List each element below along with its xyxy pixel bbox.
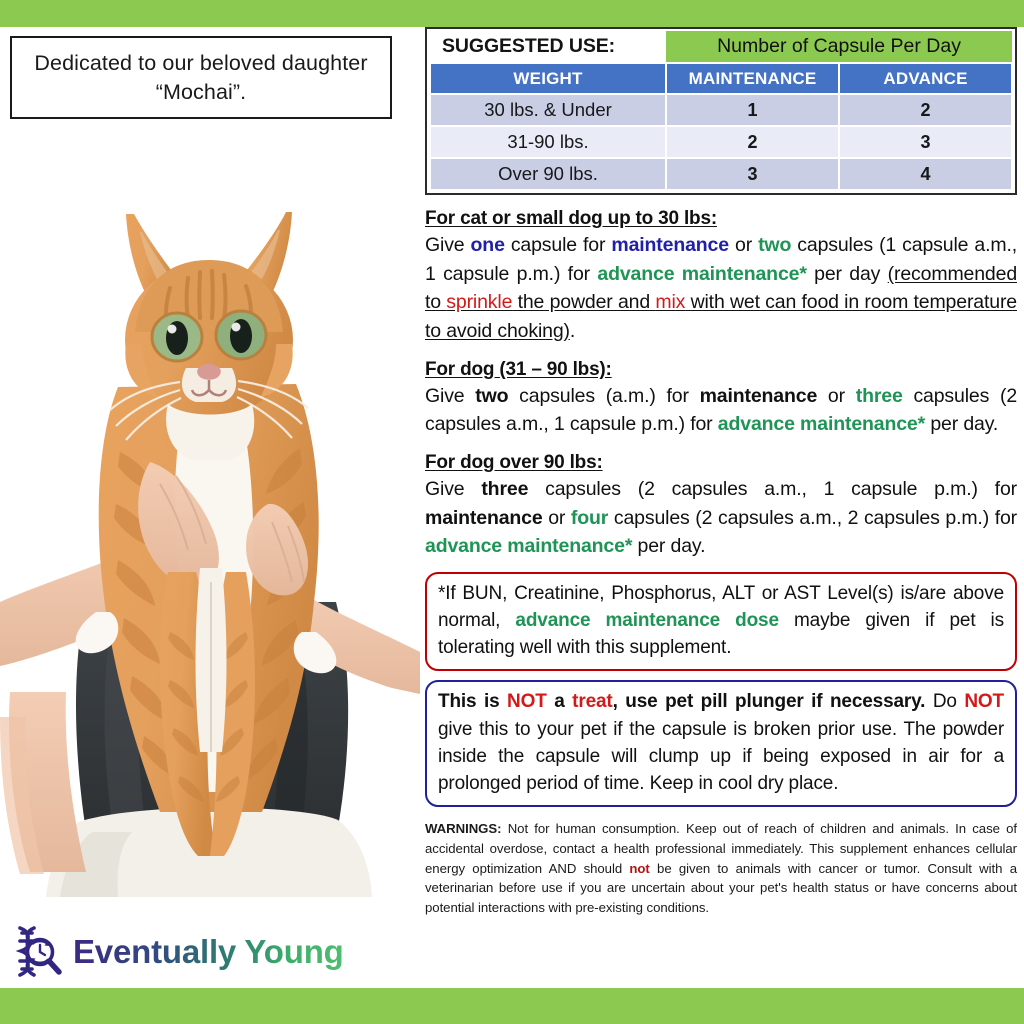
column-header-weight: WEIGHT: [430, 63, 666, 94]
warnings-label: WARNINGS:: [425, 821, 501, 836]
section-heading: For cat or small dog up to 30 lbs:: [425, 208, 1017, 230]
section-body: Give three capsules (2 capsules a.m., 1 …: [425, 475, 1017, 561]
dosing-section-large-dog: For dog over 90 lbs: Give three capsules…: [425, 452, 1017, 561]
section-heading: For dog (31 – 90 lbs):: [425, 359, 1017, 381]
cell-maintenance: 2: [666, 126, 839, 158]
cell-advance: 4: [839, 158, 1012, 190]
cell-maintenance: 1: [666, 94, 839, 126]
cell-advance: 3: [839, 126, 1012, 158]
capsules-per-day-header: Number of Capsule Per Day: [666, 31, 1012, 63]
not-a-treat-text: This is NOT a treat, use pet pill plunge…: [438, 688, 1004, 797]
cell-weight: Over 90 lbs.: [430, 158, 666, 190]
table-row: 31-90 lbs. 2 3: [430, 126, 1012, 158]
cell-weight: 30 lbs. & Under: [430, 94, 666, 126]
table-header-row: WEIGHT MAINTENANCE ADVANCE: [430, 63, 1012, 94]
table-row: Over 90 lbs. 3 4: [430, 158, 1012, 190]
table-title-row: SUGGESTED USE: Number of Capsule Per Day: [430, 31, 1012, 63]
cell-maintenance: 3: [666, 158, 839, 190]
brand-logo: Eventually Young: [8, 920, 408, 984]
dedication-text: Dedicated to our beloved daughter “Mocha…: [12, 49, 390, 106]
cell-advance: 2: [839, 94, 1012, 126]
not-a-treat-callout: This is NOT a treat, use pet pill plunge…: [425, 680, 1017, 807]
column-header-advance: ADVANCE: [839, 63, 1012, 94]
top-green-bar: [0, 0, 1024, 27]
section-body: Give one capsule for maintenance or two …: [425, 231, 1017, 346]
warnings-text: Not for human consumption. Keep out of r…: [425, 821, 1017, 915]
table-row: 30 lbs. & Under 1 2: [430, 94, 1012, 126]
dosing-section-cat-small-dog: For cat or small dog up to 30 lbs: Give …: [425, 208, 1017, 346]
lab-levels-callout: *If BUN, Creatinine, Phosphorus, ALT or …: [425, 572, 1017, 671]
dosing-section-medium-dog: For dog (31 – 90 lbs): Give two capsules…: [425, 359, 1017, 439]
bottom-green-bar: [0, 988, 1024, 1024]
cat-photo: [0, 132, 420, 897]
suggested-use-title: SUGGESTED USE:: [430, 31, 666, 63]
section-body: Give two capsules (a.m.) for maintenance…: [425, 382, 1017, 439]
product-label-page: Dedicated to our beloved daughter “Mocha…: [0, 0, 1024, 1024]
cell-weight: 31-90 lbs.: [430, 126, 666, 158]
lab-levels-text: *If BUN, Creatinine, Phosphorus, ALT or …: [438, 580, 1004, 661]
section-heading: For dog over 90 lbs:: [425, 452, 1017, 474]
dna-magnifier-clock-icon: [8, 923, 64, 981]
left-column: Dedicated to our beloved daughter “Mocha…: [0, 27, 420, 988]
brand-name: Eventually Young: [73, 933, 344, 971]
dedication-box: Dedicated to our beloved daughter “Mocha…: [10, 36, 392, 119]
suggested-use-table: SUGGESTED USE: Number of Capsule Per Day…: [425, 27, 1017, 195]
column-header-maintenance: MAINTENANCE: [666, 63, 839, 94]
warnings-paragraph: WARNINGS: Not for human consumption. Kee…: [425, 819, 1017, 918]
right-column: SUGGESTED USE: Number of Capsule Per Day…: [425, 27, 1017, 918]
